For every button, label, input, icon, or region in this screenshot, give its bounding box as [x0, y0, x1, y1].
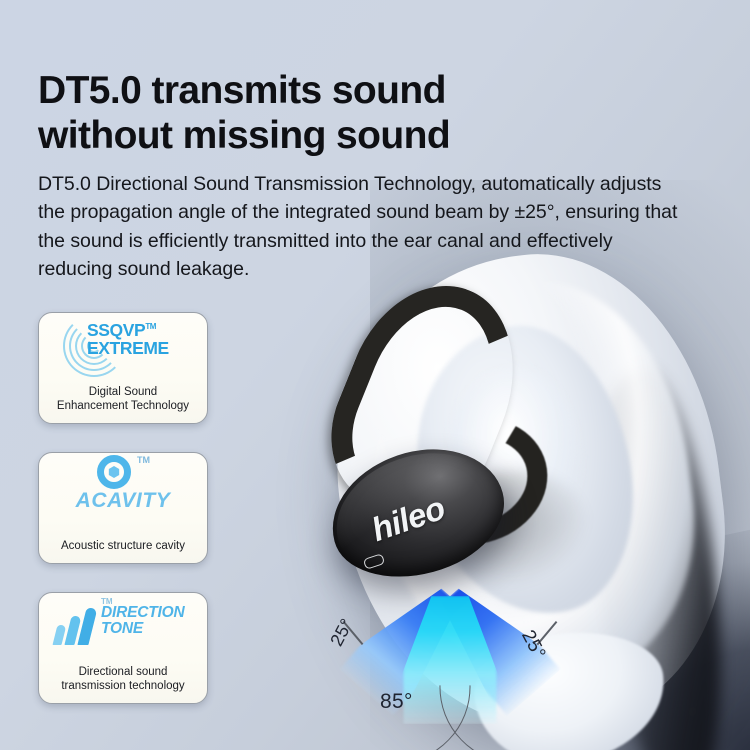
- ssqvp-line-2: EXTREME: [87, 338, 169, 358]
- direction-tone-caption: Directional sound transmission technolog…: [39, 665, 207, 694]
- ssqvp-logo: SSQVPTM EXTREME: [39, 313, 207, 375]
- trademark-symbol: TM: [145, 322, 156, 331]
- feature-badge-list: SSQVPTM EXTREME Digital Sound Enhancemen…: [38, 312, 210, 732]
- feature-badge-acavity: TM ACAVITY Acoustic structure cavity: [38, 452, 208, 564]
- feature-badge-ssqvp: SSQVPTM EXTREME Digital Sound Enhancemen…: [38, 312, 208, 424]
- ssqvp-wordmark: SSQVPTM EXTREME: [87, 321, 169, 358]
- acavity-caption: Acoustic structure cavity: [39, 539, 207, 554]
- ssqvp-caption: Digital Sound Enhancement Technology: [39, 385, 207, 414]
- headline-line-1: DT5.0 transmits sound: [38, 68, 598, 113]
- direction-tone-wordmark: DIRECTION TONE: [101, 605, 184, 638]
- direction-tone-line-1: DIRECTION: [101, 604, 184, 621]
- product-marketing-image: hileo 25° 25° 85° DT5.0 transmits sound …: [0, 0, 750, 750]
- wave-bars-icon: [53, 605, 103, 645]
- feature-badge-direction-tone: TM DIRECTION TONE Directional sound tran…: [38, 592, 208, 704]
- ssqvp-line-1: SSQVP: [87, 320, 145, 340]
- ssqvp-caption-line-1: Digital Sound: [89, 386, 157, 398]
- trademark-symbol: TM: [137, 455, 150, 465]
- beam-angle-diagram: 25° 25° 85°: [300, 590, 600, 750]
- acavity-logo: TM ACAVITY: [39, 453, 207, 515]
- body-paragraph: DT5.0 Directional Sound Transmission Tec…: [38, 170, 683, 284]
- angle-label-center: 85°: [380, 690, 413, 714]
- direction-tone-caption-line-1: Directional sound: [79, 666, 168, 678]
- direction-tone-caption-line-2: transmission technology: [61, 680, 184, 692]
- headline-line-2: without missing sound: [38, 113, 598, 158]
- hexagon-shape: [108, 466, 120, 478]
- direction-tone-logo: TM DIRECTION TONE: [39, 593, 207, 655]
- ssqvp-caption-line-2: Enhancement Technology: [57, 400, 189, 412]
- direction-tone-line-2: TONE: [101, 620, 143, 637]
- page-title: DT5.0 transmits sound without missing so…: [38, 68, 598, 158]
- acavity-wordmark: ACAVITY: [39, 489, 207, 513]
- hex-ring-icon: [97, 455, 131, 489]
